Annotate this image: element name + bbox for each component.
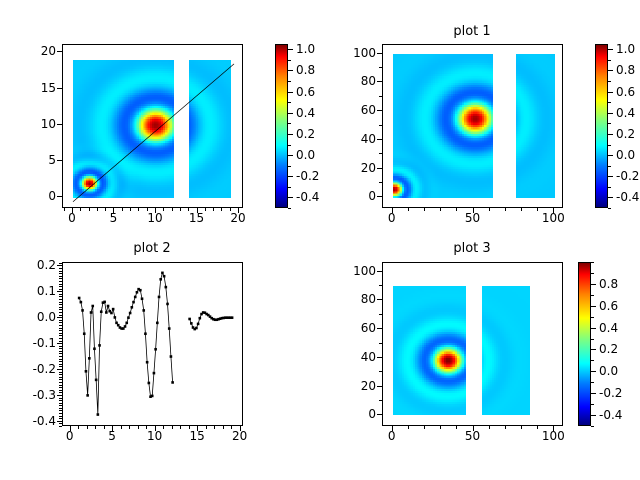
y-tick-minor <box>59 356 62 357</box>
y-tick-minor <box>379 182 382 183</box>
x-tick-minor <box>129 426 130 429</box>
series-marker <box>199 317 202 320</box>
x-tick-minor <box>231 426 232 429</box>
colorbar-tick-label: -0.4 <box>296 191 319 203</box>
y-tick-major <box>57 265 62 266</box>
y-tick-minor <box>59 294 62 295</box>
x-tick-minor <box>147 208 148 211</box>
colorbar-tick-minor <box>608 208 611 209</box>
y-tick-minor <box>59 372 62 373</box>
x-tick-minor <box>521 426 522 429</box>
series-marker <box>114 316 117 319</box>
y-tick-major <box>377 328 382 329</box>
colorbar-tick-label: 0.4 <box>599 322 618 334</box>
y-tick-major <box>377 81 382 82</box>
colorbar-tick-minor <box>608 123 611 124</box>
x-tick-minor <box>408 208 409 211</box>
series-marker <box>153 372 156 375</box>
series-marker <box>139 289 142 292</box>
series-marker <box>158 296 161 299</box>
series-marker <box>141 297 144 300</box>
x-tick-label: 50 <box>465 212 480 224</box>
colorbar-tick-label: 0.6 <box>616 86 635 98</box>
y-tick-major <box>377 271 382 272</box>
subplot-title: plot 1 <box>453 24 490 39</box>
y-tick-label: 0 <box>16 190 56 202</box>
y-tick-minor <box>59 364 62 365</box>
series-marker <box>190 322 193 325</box>
x-tick-label: 20 <box>232 430 247 442</box>
x-tick-minor <box>205 208 206 211</box>
y-tick-label: 0 <box>336 408 376 420</box>
y-tick-minor <box>59 418 62 419</box>
series-marker <box>127 316 130 319</box>
y-tick-label: 20 <box>16 45 56 57</box>
y-tick-major <box>57 343 62 344</box>
y-tick-label: 40 <box>336 133 376 145</box>
series-marker <box>91 305 94 308</box>
colorbar-tick-label: -0.2 <box>616 170 639 182</box>
y-tick-label: -0.1 <box>16 337 56 349</box>
series-marker <box>129 312 132 315</box>
colorbar-tick <box>608 134 613 135</box>
y-tick-major <box>57 124 62 125</box>
x-tick-minor <box>64 208 65 211</box>
x-tick-minor <box>489 208 490 211</box>
colorbar-tick-label: 1.0 <box>616 43 635 55</box>
x-tick-minor <box>505 208 506 211</box>
x-tick-minor <box>230 208 231 211</box>
series-marker <box>134 296 137 299</box>
series-path <box>79 273 172 415</box>
colorbar-tick <box>288 70 293 71</box>
colorbar-tick-label: 0.4 <box>296 107 315 119</box>
series-marker <box>144 332 147 335</box>
y-tick-minor <box>59 263 62 264</box>
x-tick-minor <box>440 208 441 211</box>
series-marker <box>168 327 171 330</box>
colorbar-tick <box>591 328 596 329</box>
y-tick-minor <box>379 153 382 154</box>
colorbar-tick <box>288 176 293 177</box>
series-marker <box>166 303 169 306</box>
series-marker <box>195 327 198 330</box>
diagonal-reference-line <box>63 45 243 208</box>
x-tick-minor <box>97 208 98 211</box>
y-tick-minor <box>59 366 62 367</box>
y-tick-minor <box>59 268 62 269</box>
y-tick-minor <box>59 405 62 406</box>
y-tick-minor <box>59 284 62 285</box>
series-marker <box>115 322 118 325</box>
y-tick-minor <box>59 351 62 352</box>
series-marker <box>165 286 168 289</box>
x-tick-minor <box>146 426 147 429</box>
y-tick-minor <box>59 276 62 277</box>
colorbar-tick-label: -0.4 <box>616 191 639 203</box>
heatmap-pixels <box>393 286 466 415</box>
colorbar-tick-label: 0.0 <box>296 149 315 161</box>
y-tick-major <box>57 88 62 89</box>
colorbar-tick <box>608 70 613 71</box>
x-tick-minor <box>95 426 96 429</box>
colorbar-tick-minor <box>591 360 594 361</box>
x-tick-minor <box>408 426 409 429</box>
x-tick-minor <box>180 426 181 429</box>
y-tick-major <box>57 160 62 161</box>
colorbar-gradient <box>596 45 607 207</box>
x-tick-label: 100 <box>542 430 565 442</box>
series-marker <box>142 309 145 312</box>
x-tick-minor <box>223 426 224 429</box>
colorbar-tick-label: 0.6 <box>599 300 618 312</box>
y-tick-major <box>377 53 382 54</box>
colorbar-tick-minor <box>288 123 291 124</box>
series-marker <box>148 382 151 385</box>
y-tick-label: 0.2 <box>16 259 56 271</box>
x-tick-label: 10 <box>147 212 162 224</box>
x-tick-minor <box>456 208 457 211</box>
colorbar-gradient <box>276 45 287 207</box>
y-tick-label: 0 <box>336 190 376 202</box>
heatmap-panel <box>393 286 466 415</box>
colorbar-tick <box>288 134 293 135</box>
y-tick-major <box>57 196 62 197</box>
y-tick-minor <box>59 330 62 331</box>
series-marker <box>132 301 135 304</box>
series-marker <box>80 301 83 304</box>
y-tick-minor <box>59 312 62 313</box>
x-tick-minor <box>489 426 490 429</box>
colorbar-tick-label: 0.2 <box>599 343 618 355</box>
y-tick-minor <box>59 385 62 386</box>
axes-frame-subplot-bottom-right <box>382 262 563 426</box>
y-tick-minor <box>379 285 382 286</box>
colorbar-tick-label: 0.4 <box>616 107 635 119</box>
y-tick-label: 0.0 <box>16 311 56 323</box>
series-marker <box>131 306 134 309</box>
y-tick-minor <box>59 328 62 329</box>
colorbar-tick-minor <box>288 81 291 82</box>
heatmap-pixels <box>482 286 530 415</box>
x-tick-minor <box>537 208 538 211</box>
series-marker <box>90 311 93 314</box>
colorbar-tick-minor <box>591 404 594 405</box>
y-tick-major <box>57 395 62 396</box>
colorbar-tick <box>288 113 293 114</box>
x-tick-minor <box>189 426 190 429</box>
x-tick-label: 15 <box>189 212 204 224</box>
colorbar <box>578 262 591 426</box>
y-tick-minor <box>59 408 62 409</box>
y-tick-label: 80 <box>336 75 376 87</box>
x-tick-label: 0 <box>66 430 74 442</box>
y-tick-major <box>57 51 62 52</box>
y-tick-minor <box>59 426 62 427</box>
y-tick-label: 10 <box>16 118 56 130</box>
subplot-title: plot 2 <box>133 241 170 256</box>
y-tick-minor <box>59 289 62 290</box>
colorbar-tick <box>608 92 613 93</box>
colorbar-gradient <box>579 263 590 425</box>
y-tick-major <box>377 168 382 169</box>
y-tick-minor <box>59 335 62 336</box>
y-tick-minor <box>59 307 62 308</box>
y-tick-minor <box>59 273 62 274</box>
y-tick-minor <box>59 359 62 360</box>
y-tick-label: 0.1 <box>16 285 56 297</box>
colorbar-tick <box>608 155 613 156</box>
y-tick-minor <box>59 348 62 349</box>
x-tick-label: 5 <box>110 212 118 224</box>
colorbar-tick <box>608 49 613 50</box>
colorbar-tick <box>288 197 293 198</box>
colorbar-tick <box>608 176 613 177</box>
heatmap-panel <box>516 54 555 198</box>
heatmap-panel <box>482 286 530 415</box>
colorbar-tick <box>288 49 293 50</box>
y-tick-minor <box>59 341 62 342</box>
x-tick-minor <box>105 208 106 211</box>
series-marker <box>107 305 110 308</box>
colorbar-tick-label: -0.2 <box>599 387 622 399</box>
y-tick-major <box>57 291 62 292</box>
series-marker <box>170 355 173 358</box>
y-tick-label: 20 <box>336 380 376 392</box>
x-tick-minor <box>163 208 164 211</box>
series-marker <box>103 301 106 304</box>
y-tick-minor <box>379 371 382 372</box>
y-tick-major <box>377 110 382 111</box>
colorbar-tick-minor <box>591 339 594 340</box>
x-tick-label: 15 <box>189 430 204 442</box>
x-tick-label: 50 <box>465 430 480 442</box>
y-tick-major <box>57 317 62 318</box>
y-tick-minor <box>59 286 62 287</box>
heatmap-pixels <box>516 54 555 198</box>
axes-frame-subplot-bottom-left <box>62 262 243 426</box>
x-tick-minor <box>87 426 88 429</box>
y-tick-minor <box>59 387 62 388</box>
colorbar-tick-minor <box>288 187 291 188</box>
colorbar-tick-minor <box>288 60 291 61</box>
subplot-title: plot 3 <box>453 241 490 256</box>
colorbar-tick-label: -0.4 <box>599 409 622 421</box>
x-tick-minor <box>537 426 538 429</box>
series-marker <box>105 311 108 314</box>
colorbar-tick-label: 0.8 <box>599 278 618 290</box>
y-tick-minor <box>59 320 62 321</box>
x-tick-minor <box>440 426 441 429</box>
x-tick-minor <box>172 208 173 211</box>
y-tick-label: 5 <box>16 154 56 166</box>
colorbar-tick-minor <box>591 382 594 383</box>
colorbar-tick-label: 1.0 <box>296 43 315 55</box>
x-tick-label: 10 <box>147 430 162 442</box>
y-tick-major <box>377 414 382 415</box>
y-tick-major <box>377 357 382 358</box>
y-tick-label: 15 <box>16 82 56 94</box>
colorbar-tick-minor <box>591 295 594 296</box>
x-tick-minor <box>172 426 173 429</box>
x-tick-label: 0 <box>68 212 76 224</box>
y-tick-label: 60 <box>336 104 376 116</box>
y-tick-label: 20 <box>336 162 376 174</box>
colorbar-tick <box>591 306 596 307</box>
series-marker <box>117 324 120 327</box>
y-tick-minor <box>59 374 62 375</box>
y-tick-minor <box>59 299 62 300</box>
series-marker <box>161 272 164 275</box>
y-tick-minor <box>379 314 382 315</box>
series-marker <box>125 322 128 325</box>
x-tick-label: 0 <box>388 430 396 442</box>
series-marker <box>156 322 159 325</box>
x-tick-minor <box>188 208 189 211</box>
colorbar-tick-label: 0.8 <box>616 64 635 76</box>
series-marker <box>231 316 234 319</box>
y-tick-minor <box>59 322 62 323</box>
colorbar-tick-minor <box>591 317 594 318</box>
series-marker <box>197 323 200 326</box>
x-tick-label: 0 <box>388 212 396 224</box>
series-marker <box>98 344 101 347</box>
colorbar-tick-minor <box>591 262 594 263</box>
y-tick-major <box>57 421 62 422</box>
x-tick-minor <box>221 208 222 211</box>
x-tick-minor <box>80 208 81 211</box>
series-marker <box>85 370 88 373</box>
y-tick-minor <box>59 416 62 417</box>
y-tick-label: -0.3 <box>16 389 56 401</box>
figure-canvas: 05101520051015201.00.80.60.40.20.0-0.2-0… <box>0 0 640 480</box>
x-tick-minor <box>121 426 122 429</box>
colorbar-tick-label: -0.2 <box>296 170 319 182</box>
x-tick-minor <box>180 208 181 211</box>
axes-frame-subplot-top-right <box>382 44 563 208</box>
colorbar-tick-label: 0.0 <box>599 365 618 377</box>
y-tick-label: 100 <box>336 265 376 277</box>
y-tick-minor <box>59 410 62 411</box>
y-tick-minor <box>59 346 62 347</box>
series-marker <box>97 413 100 416</box>
y-tick-major <box>57 369 62 370</box>
series-marker <box>188 318 191 321</box>
y-tick-minor <box>59 377 62 378</box>
colorbar <box>595 44 608 208</box>
y-tick-major <box>377 299 382 300</box>
series-marker <box>81 309 84 312</box>
x-tick-minor <box>89 208 90 211</box>
line-series-group <box>63 263 243 426</box>
series-marker <box>146 361 149 364</box>
colorbar-tick-minor <box>591 273 594 274</box>
y-tick-minor <box>59 398 62 399</box>
heatmap-panel <box>393 54 493 198</box>
series-marker <box>78 297 81 300</box>
x-tick-minor <box>78 426 79 429</box>
x-tick-minor <box>104 426 105 429</box>
y-tick-label: 80 <box>336 293 376 305</box>
x-tick-minor <box>138 208 139 211</box>
y-tick-minor <box>59 413 62 414</box>
x-tick-minor <box>130 208 131 211</box>
y-tick-minor <box>379 96 382 97</box>
y-tick-minor <box>59 392 62 393</box>
colorbar-tick-label: 0.8 <box>296 64 315 76</box>
colorbar-tick-minor <box>608 60 611 61</box>
y-tick-minor <box>59 353 62 354</box>
y-tick-minor <box>59 304 62 305</box>
series-marker <box>88 357 91 360</box>
series-marker <box>163 275 166 278</box>
colorbar-tick <box>591 349 596 350</box>
x-tick-minor <box>122 208 123 211</box>
colorbar-tick <box>591 415 596 416</box>
y-tick-minor <box>59 403 62 404</box>
x-tick-minor <box>138 426 139 429</box>
y-tick-minor <box>59 325 62 326</box>
x-tick-minor <box>163 426 164 429</box>
x-tick-minor <box>206 426 207 429</box>
series-marker <box>93 347 96 350</box>
y-tick-minor <box>379 343 382 344</box>
y-tick-minor <box>379 125 382 126</box>
y-tick-major <box>377 196 382 197</box>
y-tick-minor <box>59 382 62 383</box>
colorbar-tick <box>608 113 613 114</box>
colorbar-tick-label: 0.6 <box>296 86 315 98</box>
x-tick-minor <box>505 426 506 429</box>
x-tick-minor <box>213 208 214 211</box>
y-tick-minor <box>59 271 62 272</box>
series-marker <box>95 379 98 382</box>
y-tick-minor <box>59 338 62 339</box>
y-tick-minor <box>59 315 62 316</box>
y-tick-minor <box>379 67 382 68</box>
colorbar-tick <box>591 393 596 394</box>
y-tick-minor <box>59 423 62 424</box>
colorbar-tick-minor <box>608 187 611 188</box>
series-path <box>190 312 232 329</box>
series-marker <box>112 308 115 311</box>
series-marker <box>124 325 127 328</box>
colorbar-tick-label: 0.0 <box>616 149 635 161</box>
colorbar-tick-minor <box>288 145 291 146</box>
colorbar-tick <box>288 92 293 93</box>
y-tick-minor <box>379 400 382 401</box>
y-tick-label: -0.4 <box>16 415 56 427</box>
series-marker <box>171 381 174 384</box>
y-tick-label: 40 <box>336 351 376 363</box>
y-tick-minor <box>59 281 62 282</box>
y-tick-minor <box>59 400 62 401</box>
y-tick-label: 60 <box>336 322 376 334</box>
y-tick-minor <box>59 302 62 303</box>
y-tick-minor <box>59 309 62 310</box>
colorbar-tick-minor <box>288 166 291 167</box>
colorbar-tick-minor <box>608 102 611 103</box>
colorbar-tick-minor <box>288 102 291 103</box>
y-tick-major <box>377 139 382 140</box>
y-tick-minor <box>59 361 62 362</box>
colorbar-tick <box>608 197 613 198</box>
x-tick-label: 20 <box>230 212 245 224</box>
colorbar-tick-minor <box>608 81 611 82</box>
x-tick-label: 5 <box>108 430 116 442</box>
colorbar-tick-label: 0.2 <box>296 128 315 140</box>
y-tick-major <box>377 386 382 387</box>
